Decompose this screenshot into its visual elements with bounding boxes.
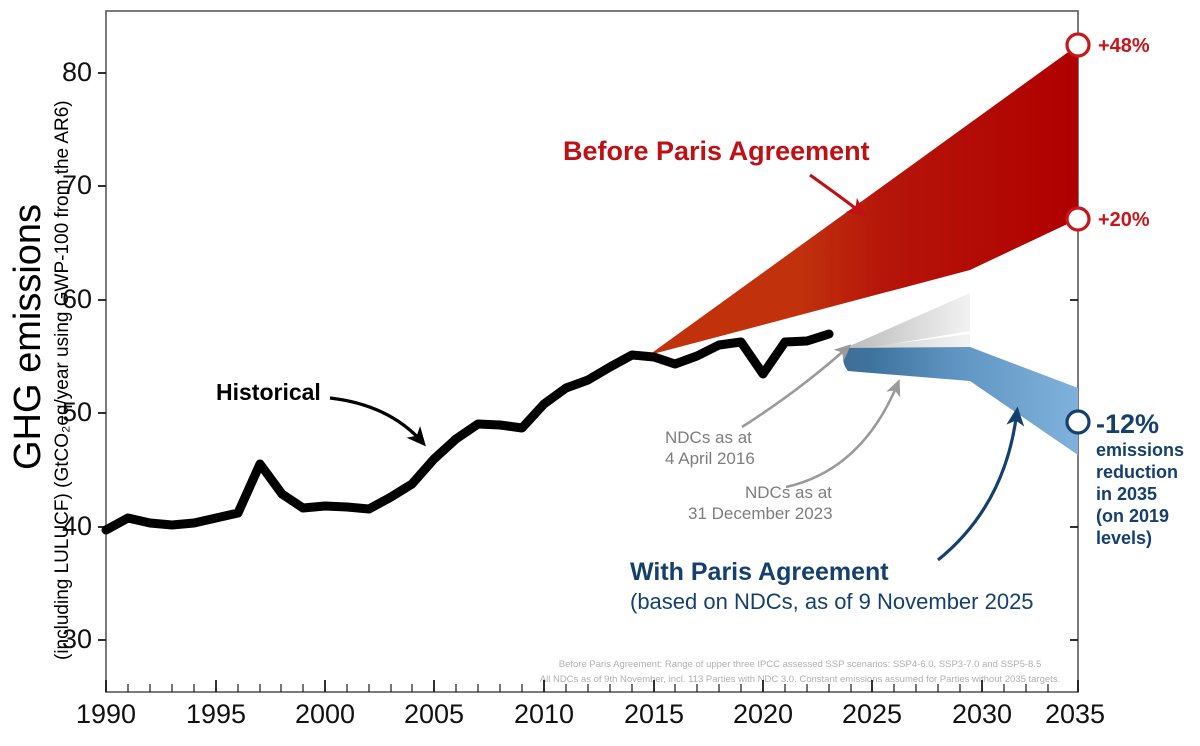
endpoint-label-plus48: +48% — [1098, 35, 1150, 57]
ndc-2023-label-line2: 31 December 2023 — [688, 504, 833, 523]
before-paris-arrow — [810, 175, 863, 214]
endpoint-label-minus12: -12% — [1096, 409, 1159, 439]
y-axis-title-sub: (including LULUCF) (GtCO₂eq/year using G… — [52, 100, 73, 660]
endpoint-label-reduction: reduction — [1096, 462, 1178, 482]
x-axis: 1990 1995 2000 2005 2010 2015 2020 2025 … — [76, 680, 1105, 729]
x-tick-2015: 2015 — [624, 699, 684, 729]
y-tick-80: 80 — [62, 57, 92, 87]
before-paris-label: Before Paris Agreement — [563, 136, 870, 166]
with-paris-sublabel: (based on NDCs, as of 9 November 2025 — [630, 589, 1034, 614]
x-tick-1990: 1990 — [76, 699, 136, 729]
historical-arrow — [330, 398, 423, 443]
x-tick-2030: 2030 — [952, 699, 1012, 729]
x-tick-1995: 1995 — [186, 699, 246, 729]
y-axis-title: GHG emissions (including LULUCF) (GtCO₂e… — [7, 100, 73, 660]
historical-label: Historical — [216, 379, 321, 405]
chart-root: 80 70 60 50 40 30 GHG emissions (includi… — [0, 0, 1200, 746]
endpoint-label-in-2035: in 2035 — [1096, 484, 1157, 504]
with-paris-label: With Paris Agreement — [630, 558, 889, 586]
x-tick-2005: 2005 — [404, 699, 464, 729]
with-paris-arrow — [938, 411, 1017, 560]
x-tick-2025: 2025 — [842, 699, 902, 729]
x-axis-minor-ticks — [128, 684, 1048, 692]
endpoint-marker-blue — [1067, 411, 1089, 433]
ndc-2023-arrow — [786, 383, 898, 487]
before-paris-band — [649, 45, 1078, 355]
x-tick-2020: 2020 — [733, 699, 793, 729]
ghg-emissions-chart: 80 70 60 50 40 30 GHG emissions (includi… — [0, 0, 1200, 746]
endpoint-label-emissions: emissions — [1096, 440, 1184, 460]
endpoint-label-plus20: +20% — [1098, 209, 1150, 231]
x-tick-2000: 2000 — [295, 699, 355, 729]
with-paris-band — [843, 347, 1078, 455]
footnote-line-1: Before Paris Agreement: Range of upper t… — [559, 659, 1041, 670]
endpoint-marker-red-bottom — [1067, 208, 1089, 230]
endpoint-label-on-2019: (on 2019 — [1096, 506, 1169, 526]
endpoint-marker-red-top — [1067, 34, 1089, 56]
endpoint-label-levels: levels) — [1096, 528, 1152, 548]
x-tick-2035: 2035 — [1045, 699, 1105, 729]
x-tick-2010: 2010 — [514, 699, 574, 729]
ndc-2016-label-line2: 4 April 2016 — [665, 449, 755, 468]
ndc-2016-label-line1: NDCs as at — [665, 428, 752, 447]
y-axis-title-main: GHG emissions — [7, 204, 49, 470]
